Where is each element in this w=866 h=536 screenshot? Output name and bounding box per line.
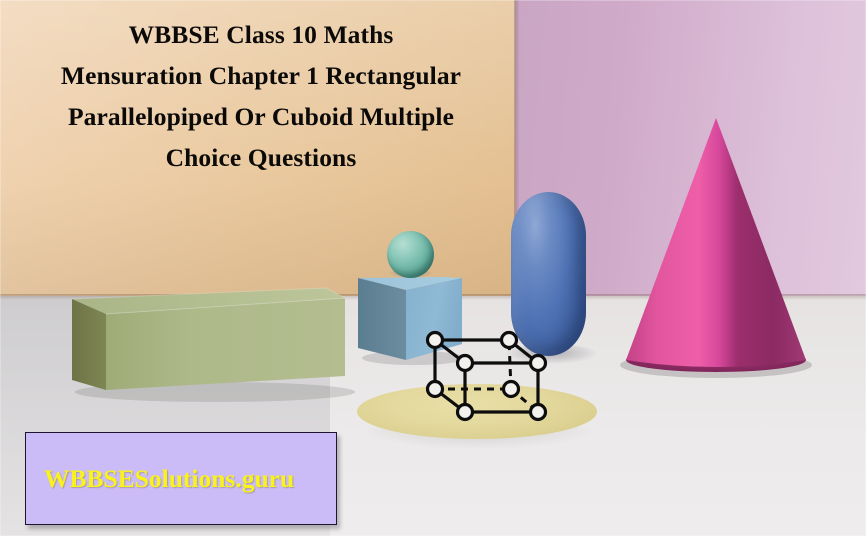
- title-line-4: Choice Questions: [26, 137, 496, 178]
- pink-cone-shape: [616, 112, 816, 377]
- wireframe-vertex-back-top-left: [428, 333, 443, 348]
- wireframe-vertex-back-bottom-right: [504, 382, 519, 397]
- title-line-3: Parallelopiped Or Cuboid Multiple: [26, 96, 496, 137]
- title-line-2: Mensuration Chapter 1 Rectangular: [26, 55, 496, 96]
- title-line-1: WBBSE Class 10 Maths: [26, 14, 496, 55]
- wireframe-vertex-back-top-right: [502, 333, 517, 348]
- wireframe-vertex-front-top-right: [531, 356, 546, 371]
- wireframe-vertex-front-bottom-right: [531, 405, 546, 420]
- teal-sphere-shape: [387, 231, 434, 278]
- watermark-label: WBBSESolutions.guru: [26, 464, 294, 494]
- wireframe-vertex-front-top-left: [458, 356, 473, 371]
- wireframe-vertex-front-bottom-left: [458, 405, 473, 420]
- wireframe-vertex-back-bottom-left: [428, 382, 443, 397]
- image-canvas: WBBSE Class 10 Maths Mensuration Chapter…: [0, 0, 866, 536]
- green-cuboid-shape: [55, 280, 345, 400]
- wireframe-cube-diagram: [420, 326, 556, 426]
- watermark-badge: WBBSESolutions.guru: [25, 432, 337, 525]
- page-title: WBBSE Class 10 Maths Mensuration Chapter…: [26, 14, 496, 178]
